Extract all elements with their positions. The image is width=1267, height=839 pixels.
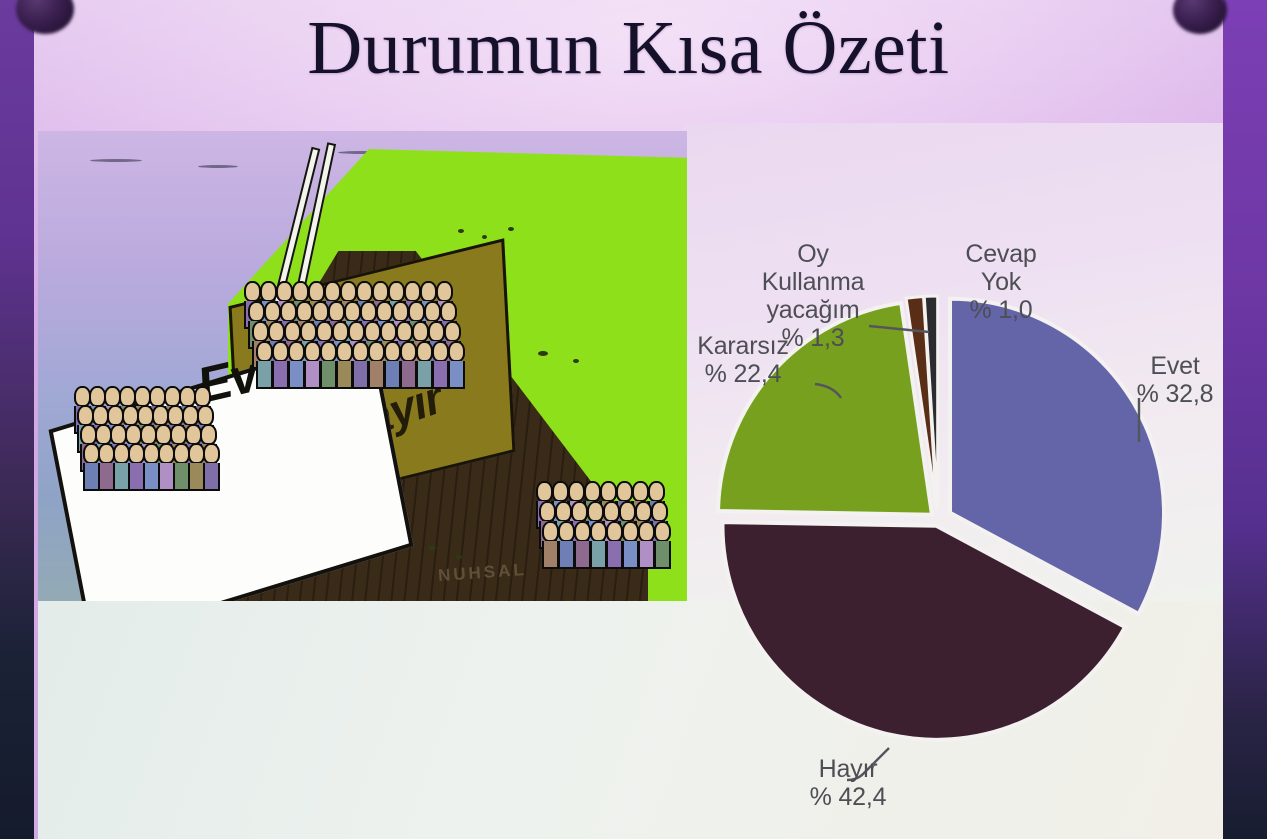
- crowd-figure: [188, 443, 203, 491]
- figure-head: [632, 481, 649, 502]
- figure-head: [194, 386, 211, 407]
- crowd-figure: [606, 521, 621, 569]
- figure-head: [316, 321, 333, 342]
- grass-speck: [482, 235, 487, 239]
- figure-body: [304, 361, 321, 389]
- figure-head: [312, 301, 329, 322]
- figure-head: [635, 501, 652, 522]
- figure-body: [574, 541, 591, 569]
- pie-label-oy-line2: Kullanma: [762, 268, 865, 296]
- grass-speck: [428, 546, 436, 550]
- figure-head: [428, 321, 445, 342]
- figure-head: [542, 521, 559, 542]
- figure-head: [555, 501, 572, 522]
- figure-head: [571, 501, 588, 522]
- figure-head: [552, 481, 569, 502]
- figure-head: [260, 281, 277, 302]
- figure-head: [388, 281, 405, 302]
- figure-head: [392, 301, 409, 322]
- crowd-figure: [384, 341, 399, 389]
- figure-head: [444, 321, 461, 342]
- figure-head: [360, 301, 377, 322]
- figure-head: [248, 301, 265, 322]
- pie-label-cevap-yok: Cevap Yok % 1,0: [931, 240, 1071, 324]
- figure-head: [651, 501, 668, 522]
- figure-head: [308, 281, 325, 302]
- figure-body: [272, 361, 289, 389]
- crowd-figure: [304, 341, 319, 389]
- crowd-figure: [448, 341, 463, 389]
- figure-body: [606, 541, 623, 569]
- figure-head: [440, 301, 457, 322]
- figure-head: [320, 341, 337, 362]
- figure-head: [648, 481, 665, 502]
- crowd-figure: [143, 443, 158, 491]
- figure-head: [244, 281, 261, 302]
- figure-head: [404, 281, 421, 302]
- figure-body: [384, 361, 401, 389]
- pie-chart-svg: [683, 130, 1223, 839]
- figure-body: [638, 541, 655, 569]
- figure-head: [584, 481, 601, 502]
- figure-head: [412, 321, 429, 342]
- figure-head: [436, 281, 453, 302]
- figure-head: [616, 481, 633, 502]
- figure-body: [622, 541, 639, 569]
- figure-head: [197, 405, 214, 426]
- pie-label-evet-name: Evet: [1150, 352, 1199, 380]
- crowd-figure: [416, 341, 431, 389]
- figure-head: [574, 521, 591, 542]
- figure-body: [400, 361, 417, 389]
- figure-head: [408, 301, 425, 322]
- crowd-figure: [83, 443, 98, 491]
- figure-head: [558, 521, 575, 542]
- pie-label-hayir: Hayır % 42,4: [753, 755, 943, 811]
- figure-head: [272, 341, 289, 362]
- figure-head: [264, 301, 281, 322]
- slide-surface: Durumun Kısa Özeti Hayır Evet: [34, 0, 1223, 839]
- figure-head: [336, 341, 353, 362]
- figure-body: [288, 361, 305, 389]
- figure-head: [304, 341, 321, 362]
- figure-head: [424, 301, 441, 322]
- crowd-figure: [432, 341, 447, 389]
- figure-head: [288, 341, 305, 362]
- pie-label-cevap-line2: Yok: [981, 268, 1021, 296]
- pie-label-hayir-pct: % 42,4: [753, 783, 943, 811]
- figure-head: [432, 341, 449, 362]
- pie-label-cevap-pct: % 1,0: [931, 296, 1071, 324]
- page-title: Durumun Kısa Özeti: [34, 8, 1223, 89]
- crowd-figure: [558, 521, 573, 569]
- figure-body: [256, 361, 273, 389]
- figure-body: [432, 361, 449, 389]
- wall-border-right: [1223, 0, 1267, 839]
- figure-head: [606, 521, 623, 542]
- figure-head: [200, 424, 217, 445]
- figure-body: [416, 361, 433, 389]
- figure-head: [372, 281, 389, 302]
- figure-head: [340, 281, 357, 302]
- pie-label-kararsiz-name: Kararsız: [697, 332, 788, 360]
- pie-label-oy-line1: Oy: [797, 240, 829, 268]
- figure-body: [336, 361, 353, 389]
- figure-body: [448, 361, 465, 389]
- cartoon-illustration: Hayır Evet NUHSAL: [38, 131, 687, 601]
- figure-head: [448, 341, 465, 362]
- figure-body: [368, 361, 385, 389]
- figure-head: [324, 281, 341, 302]
- grass-speck: [538, 351, 548, 356]
- figure-head: [203, 443, 220, 464]
- figure-head: [280, 301, 297, 322]
- figure-head: [619, 501, 636, 522]
- cloud-mark: [90, 159, 142, 162]
- pie-label-kararsiz-pct: % 22,4: [663, 360, 823, 388]
- figure-head: [603, 501, 620, 522]
- figure-head: [252, 321, 269, 342]
- crowd-figure: [574, 521, 589, 569]
- crowd-figure: [542, 521, 557, 569]
- figure-head: [587, 501, 604, 522]
- figure-head: [276, 281, 293, 302]
- figure-head: [376, 301, 393, 322]
- figure-head: [268, 321, 285, 342]
- crowd-figure: [320, 341, 335, 389]
- projected-slide-photo: Durumun Kısa Özeti Hayır Evet: [0, 0, 1267, 839]
- figure-body: [352, 361, 369, 389]
- figure-head: [300, 321, 317, 342]
- crowd-figure: [256, 341, 271, 389]
- figure-body: [203, 463, 220, 491]
- crowd-figure: [654, 521, 669, 569]
- figure-head: [348, 321, 365, 342]
- figure-body: [654, 541, 671, 569]
- figure-head: [622, 521, 639, 542]
- figure-head: [400, 341, 417, 362]
- cloud-mark: [198, 165, 238, 168]
- figure-body: [590, 541, 607, 569]
- figure-head: [539, 501, 556, 522]
- wall-border-left: [0, 0, 34, 839]
- crowd-figure: [113, 443, 128, 491]
- figure-head: [654, 521, 671, 542]
- figure-head: [416, 341, 433, 362]
- crowd-figure: [128, 443, 143, 491]
- crowd-figure: [98, 443, 113, 491]
- crowd-figure: [368, 341, 383, 389]
- figure-head: [380, 321, 397, 342]
- figure-head: [536, 481, 553, 502]
- figure-head: [590, 521, 607, 542]
- figure-head: [396, 321, 413, 342]
- grass-speck: [508, 227, 514, 231]
- figure-head: [568, 481, 585, 502]
- crowd-figure: [173, 443, 188, 491]
- crowd-figure: [203, 443, 218, 491]
- figure-head: [600, 481, 617, 502]
- crowd-figure: [590, 521, 605, 569]
- figure-head: [420, 281, 437, 302]
- grass-speck: [456, 555, 462, 559]
- pie-label-kararsiz: Kararsız % 22,4: [663, 332, 823, 388]
- pie-label-cevap-line1: Cevap: [965, 240, 1036, 268]
- figure-head: [296, 301, 313, 322]
- crowd-figure: [400, 341, 415, 389]
- figure-head: [256, 341, 273, 362]
- figure-head: [368, 341, 385, 362]
- figure-head: [344, 301, 361, 322]
- figure-body: [320, 361, 337, 389]
- figure-head: [332, 321, 349, 342]
- crowd-figure: [622, 521, 637, 569]
- figure-head: [384, 341, 401, 362]
- figure-head: [638, 521, 655, 542]
- figure-body: [558, 541, 575, 569]
- crowd-figure: [336, 341, 351, 389]
- figure-head: [356, 281, 373, 302]
- grass-speck: [573, 359, 579, 363]
- crowd-figure: [352, 341, 367, 389]
- pie-chart: Oy Kullanma yacağım % 1,3 Cevap Yok % 1,…: [683, 130, 1223, 839]
- figure-head: [364, 321, 381, 342]
- grass-speck: [458, 229, 464, 233]
- figure-head: [328, 301, 345, 322]
- pie-label-hayir-name: Hayır: [819, 755, 878, 783]
- figure-body: [542, 541, 559, 569]
- crowd-figure: [288, 341, 303, 389]
- figure-head: [292, 281, 309, 302]
- crowd-figure: [272, 341, 287, 389]
- crowd-figure: [158, 443, 173, 491]
- figure-head: [352, 341, 369, 362]
- crowd-figure: [638, 521, 653, 569]
- pie-label-oy-line3: yacağım: [766, 296, 859, 324]
- figure-head: [284, 321, 301, 342]
